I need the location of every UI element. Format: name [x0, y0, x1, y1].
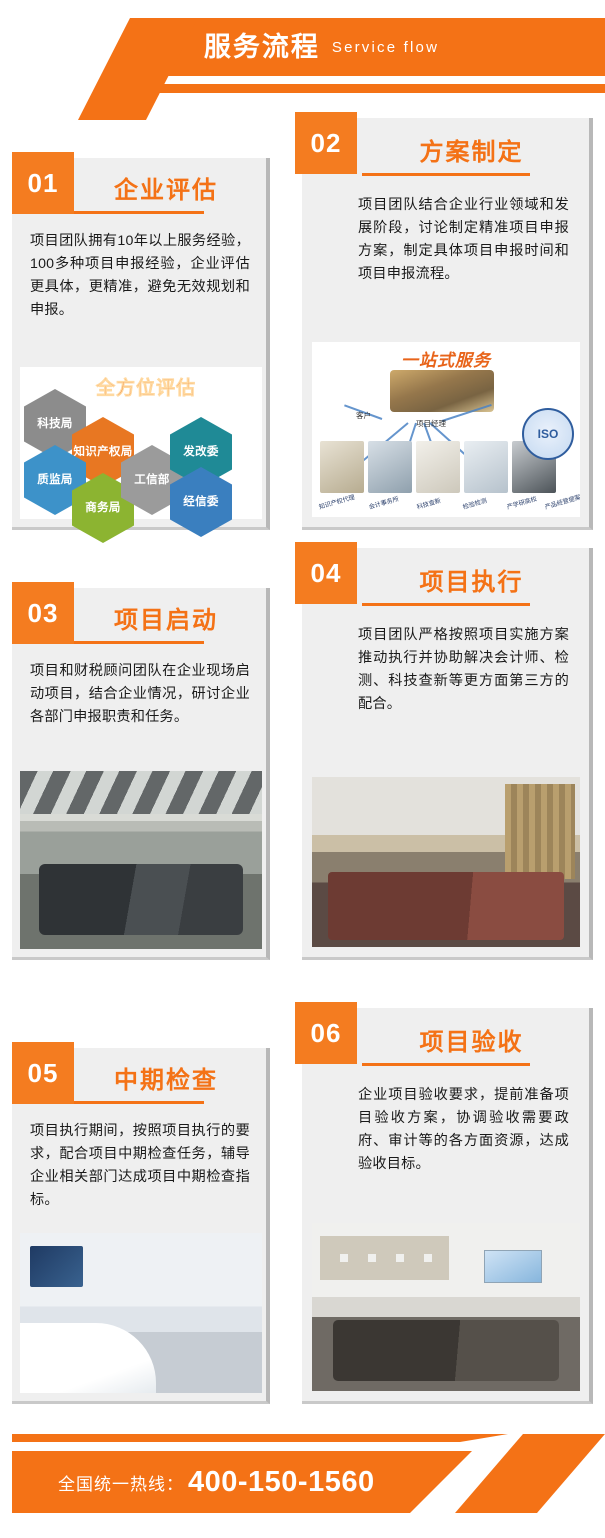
hexagon-diagram-title: 全方位评估	[96, 373, 196, 400]
photo-image	[312, 1223, 580, 1391]
page-title: 服务流程	[204, 34, 320, 61]
one-stop-center-photo	[390, 370, 494, 412]
oss-branch-accounting: 会计事务所	[368, 494, 400, 511]
card-title-04: 项目执行	[368, 570, 575, 596]
hotline-group: 全国统一热线： 400-150-1560	[58, 1451, 375, 1513]
step-number-04: 04	[295, 542, 357, 604]
footer-diagonal-slash	[455, 1434, 605, 1513]
card-body-06: 企业项目验收要求，提前准备项目验收方案，协调验收需要政府、审计等的各方面资源，达…	[358, 1084, 569, 1176]
oss-thumb-accounting	[368, 441, 412, 493]
oss-branch-tech-search: 科技查新	[416, 496, 442, 511]
infographic-page: 服务流程 Service flow 企业评估 项目团队拥有10年以上服务经验，1…	[0, 0, 605, 1538]
oss-thumb-ip-agency	[320, 441, 364, 493]
card-body-02: 项目团队结合企业行业领域和发展阶段，讨论制定精准项目申报方案，制定具体项目申报时…	[358, 194, 569, 286]
footer-accent-line	[12, 1434, 605, 1442]
photo-image	[20, 771, 262, 949]
presentation-screen	[484, 1250, 543, 1284]
hotline-label: 全国统一热线：	[58, 1470, 184, 1495]
title-underline-04	[362, 603, 530, 606]
header-title-group: 服务流程 Service flow	[0, 18, 605, 76]
step-card-04: 项目执行 项目团队严格按照项目实施方案推动执行并协助解决会计师、检测、科技查新等…	[302, 548, 593, 960]
photo-conference-room	[20, 771, 262, 949]
step-number-03: 03	[12, 582, 74, 644]
card-title-02: 方案制定	[368, 140, 575, 166]
oss-branch-inspection: 检验检测	[462, 496, 488, 511]
one-stop-service-diagram: 一站式服务 客户 项目经理 ISO 知识产权代理 会计事务所 科技查新 检验检测…	[312, 342, 580, 517]
photo-showroom-visit	[20, 1233, 262, 1393]
card-title-05: 中期检查	[74, 1068, 258, 1094]
oss-branch-proposal: 产品经营提案	[544, 492, 580, 511]
card-title-01: 企业评估	[74, 178, 258, 204]
card-body-05: 项目执行期间，按照项目执行的要求，配合项目中期检查任务，辅导企业相关部门达成项目…	[30, 1120, 250, 1212]
page-subtitle: Service flow	[332, 39, 439, 56]
card-title-06: 项目验收	[368, 1030, 575, 1056]
title-underline-05	[64, 1101, 204, 1104]
card-title-03: 项目启动	[74, 608, 258, 634]
iso-seal-icon: ISO	[522, 408, 574, 460]
card-body-01: 项目团队拥有10年以上服务经验，100多种项目申报经验，企业评估更具体，更精准，…	[30, 230, 250, 322]
page-header: 服务流程 Service flow	[0, 0, 605, 120]
title-underline-02	[362, 173, 530, 176]
step-number-05: 05	[12, 1042, 74, 1104]
oss-branch-ip-agency: 知识产权代理	[318, 492, 356, 511]
title-underline-03	[64, 641, 204, 644]
photo-image	[20, 1233, 262, 1393]
oss-thumb-inspection	[464, 441, 508, 493]
oss-thumb-tech-search	[416, 441, 460, 493]
step-card-02: 方案制定 项目团队结合企业行业领域和发展阶段，讨论制定精准项目申报方案，制定具体…	[302, 118, 593, 530]
card-body-04: 项目团队严格按照项目实施方案推动执行并协助解决会计师、检测、科技查新等更方面第三…	[358, 624, 569, 716]
step-number-06: 06	[295, 1002, 357, 1064]
step-number-02: 02	[295, 112, 357, 174]
hotline-number[interactable]: 400-150-1560	[188, 1466, 375, 1499]
page-footer: 全国统一热线： 400-150-1560	[0, 1418, 605, 1538]
oss-label-project-manager: 项目经理	[416, 418, 446, 429]
step-card-06: 项目验收 企业项目验收要求，提前准备项目验收方案，协调验收需要政府、审计等的各方…	[302, 1008, 593, 1404]
oss-branch-university: 产学研高校	[506, 494, 538, 511]
step-number-01: 01	[12, 152, 74, 214]
title-underline-01	[64, 211, 204, 214]
one-stop-diagram-title: 一站式服务	[312, 346, 580, 371]
title-underline-06	[362, 1063, 530, 1066]
hexagon-diagram: 全方位评估 科技局 知识产权局 质监局 商务局 工信部 发改委 经信委	[20, 367, 262, 519]
photo-meeting-laptops	[312, 777, 580, 947]
photo-certificates-meeting	[312, 1223, 580, 1391]
oss-label-customer: 客户	[356, 410, 371, 421]
header-accent-line	[0, 84, 605, 93]
card-body-03: 项目和财税顾问团队在企业现场启动项目，结合企业情况，研讨企业各部门申报职责和任务…	[30, 660, 250, 729]
photo-image	[312, 777, 580, 947]
